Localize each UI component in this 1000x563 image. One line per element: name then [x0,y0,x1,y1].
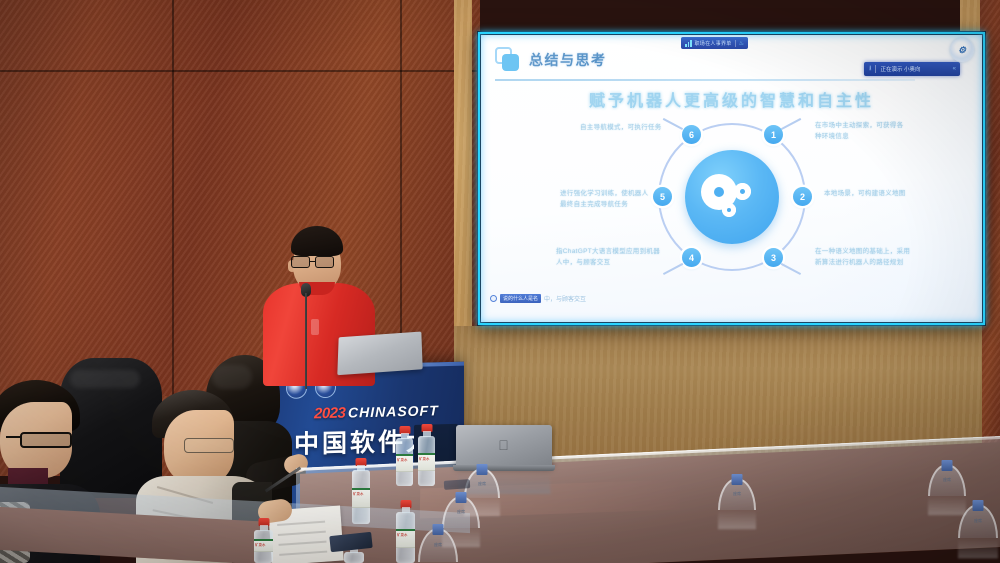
speaker-hair [291,226,343,256]
podium-year: 2023 [314,405,345,423]
macbook-laptop:  [456,425,552,467]
podium-microphone [301,283,311,388]
water-bottle: 矿泉水 [396,500,415,563]
screen-share-badge[interactable]: 职场在人事界单 ♨ [681,37,748,49]
microphone-stem [305,293,308,389]
nameplate-holder: 座席 [442,496,480,528]
gear-medium [734,183,751,200]
nameplate-tag [433,524,444,535]
record-dot-icon [490,295,497,302]
nameplate-tag [973,500,984,511]
nameplate-holder: 座席 [418,528,458,562]
nameplate-tag [477,464,488,475]
water-bottle: 矿泉水 [352,458,370,524]
presenter-laptop-lid [337,332,422,376]
diagram-hub [685,150,779,244]
nameplate-holder: 座席 [958,504,998,538]
nameplate-tag [732,474,743,485]
slide-header-divider [495,79,915,81]
bottle-label: 矿泉水 [254,539,273,553]
diagram-leader-1 [781,118,801,130]
diagram-blurb-2: 本地场景，可构建语义地图 [824,189,916,200]
chevron-left-icon[interactable]: « [953,66,955,72]
slide-title: 总结与思考 [529,50,607,70]
diagram-node-4: 4 [682,248,701,267]
cycle-diagram: 1 2 3 4 5 6 在市场中主动探索，可获得各种环境信息 本地场景，可构建语… [652,117,812,277]
water-bottle: 矿泉水 [254,518,273,563]
bottle-label: 矿泉水 [396,529,415,548]
gear-small [722,203,736,217]
diagram-node-6: 6 [682,125,701,144]
diagram-node-2: 2 [793,187,812,206]
diagram-blurb-3: 在一种语义地图的基础上，采用新算法进行机器人的路径规划 [815,247,913,268]
person-middle-glasses [184,438,234,453]
diagram-blurb-6: 自主导航模式，可执行任务 [580,123,662,134]
apple-logo-icon:  [497,438,510,453]
download-icon: ⭳ [869,64,871,75]
watermark-tail: 中，与顾客交互 [544,294,586,303]
bottle-label: 矿泉水 [418,453,435,472]
bottle-label: 矿泉水 [352,488,370,508]
wall-seam-vertical [172,0,174,400]
conference-room-scene: 总结与思考 职场在人事界单 ♨ ⭳ 正在演示 小奥向 « ⚙ 赋予机器人更高级 [0,0,1000,563]
water-bottle: 矿泉水 [418,424,435,486]
diagram-blurb-5: 进行强化学习训练，使机器人最终自主完成导航任务 [560,189,654,210]
nameplate-holder: 座席 [718,478,756,510]
diagram-node-5: 5 [653,187,672,206]
diagram-blurb-1: 在市场中主动探索，可获得各种环境信息 [815,121,907,142]
signal-bars-icon [685,40,692,47]
slide-headline: 赋予机器人更高级的智慧和自主性 [481,87,982,111]
speaker-shirt-graphic [311,319,319,335]
person-front-glasses [20,432,72,448]
bottle-label: 矿泉水 [396,454,413,472]
slide-header: 总结与思考 [495,47,607,72]
nameplate-holder: 座席 [928,464,966,496]
diagram-leader-6 [663,118,683,130]
conference-logo-icon: ⚙ [950,38,974,62]
nameplate-tag [456,492,467,503]
diagram-leader-4 [663,263,683,275]
watermark-chip: 说的什么人是名 [500,294,541,303]
flame-icon: ♨ [739,40,744,47]
slide-content: 总结与思考 职场在人事界单 ♨ ⭳ 正在演示 小奥向 « ⚙ 赋予机器人更高级 [481,35,982,322]
diagram-leader-3 [781,263,801,275]
nameplate-tag [942,460,953,471]
person-front-glasses-arm [6,436,22,438]
phone-device [444,479,471,490]
wall-seam-horizontal [0,70,480,72]
screen-share-badge-label: 职场在人事界单 [695,40,732,47]
speaker-glasses [291,255,341,268]
podium-name-en: CHINASOFT [348,402,439,420]
presenter-laptop [338,334,422,372]
presentation-display: 总结与思考 职场在人事界单 ♨ ⭳ 正在演示 小奥向 « ⚙ 赋予机器人更高级 [477,31,986,326]
water-bottle: 矿泉水 [396,426,413,486]
slide-watermark: 说的什么人是名 中，与顾客交互 [490,294,586,303]
presenting-status-label: 正在演示 小奥向 [880,65,920,73]
diagram-blurb-4: 指ChatGPT大语言模型应用到机器人中，与顾客交互 [556,247,660,268]
presenting-status-pill[interactable]: ⭳ 正在演示 小奥向 « [864,62,960,76]
gears-icon [704,173,760,221]
rounded-square-stack-icon [495,47,520,72]
